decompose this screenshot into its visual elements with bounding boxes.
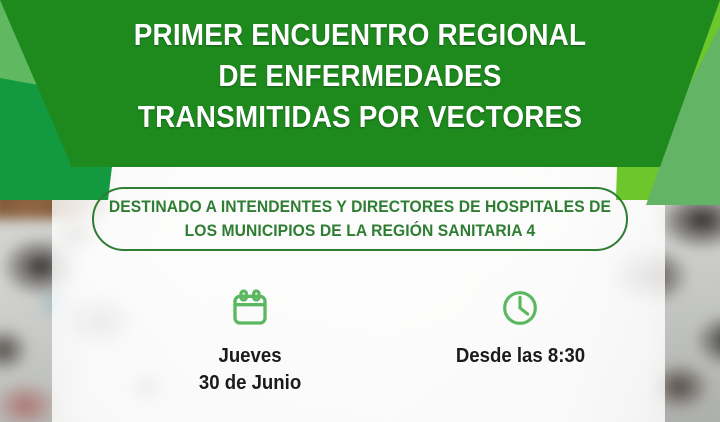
page-title: PRIMER ENCUENTRO REGIONAL DE ENFERMEDADE… (36, 14, 684, 137)
event-time: Desde las 8:30 (420, 283, 620, 370)
event-details: Jueves 30 de Junio Desde las 8:30 (150, 283, 620, 397)
event-date: Jueves 30 de Junio (150, 283, 350, 397)
title-line-3: TRANSMITIDAS POR VECTORES (36, 96, 684, 137)
clock-icon (500, 283, 540, 333)
event-date-text: Jueves 30 de Junio (199, 343, 301, 397)
title-line-1: PRIMER ENCUENTRO REGIONAL (36, 14, 684, 55)
event-time-text: Desde las 8:30 (455, 343, 584, 370)
audience-callout: DESTINADO A INTENDENTES Y DIRECTORES DE … (92, 187, 628, 251)
event-date-line-2: 30 de Junio (199, 370, 301, 397)
event-date-line-1: Jueves (199, 343, 301, 370)
title-line-2: DE ENFERMEDADES (36, 55, 684, 96)
calendar-icon (230, 283, 270, 333)
audience-line-1: DESTINADO A INTENDENTES Y DIRECTORES DE … (109, 195, 611, 219)
audience-line-2: LOS MUNICIPIOS DE LA REGIÓN SANITARIA 4 (109, 219, 611, 243)
event-time-line-1: Desde las 8:30 (455, 343, 584, 370)
event-flyer: PRIMER ENCUENTRO REGIONAL DE ENFERMEDADE… (0, 0, 720, 422)
audience-callout-text: DESTINADO A INTENDENTES Y DIRECTORES DE … (109, 195, 611, 243)
